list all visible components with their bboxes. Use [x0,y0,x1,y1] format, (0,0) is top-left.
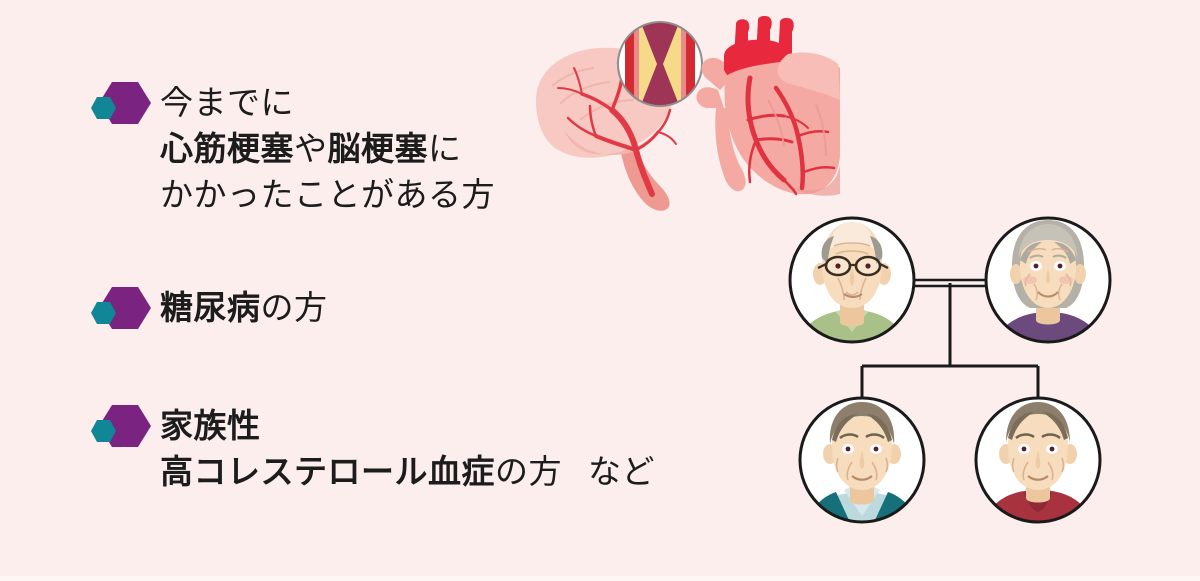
text-run: 今までに [160,84,294,121]
list-item: 糖尿病の方 [88,285,328,331]
list-item-label: 家族性 高コレステロール血症の方など [160,403,655,495]
heart-icon [696,16,840,196]
family-pedigree-diagram [780,208,1120,550]
list-item-label: 今までに 心筋梗塞や脳梗塞に かかったことがある方 [160,80,495,218]
list-item-label: 糖尿病の方 [160,285,328,331]
brain-and-heart-illustration [520,8,840,218]
text-run: 脳梗塞 [328,130,429,167]
double-hexagon-bullet-icon [88,80,156,126]
grandmother-portrait [986,218,1110,360]
text-run: 心筋梗塞 [160,130,294,167]
text-run: に [428,130,462,167]
list-item: 家族性 高コレステロール血症の方など [88,403,655,495]
text-run: の方 [261,289,328,326]
text-run: 家族性 [160,407,261,444]
double-hexagon-bullet-icon [88,403,156,449]
text-run: 高コレステロール血症 [160,453,495,490]
son-left-portrait [800,398,924,538]
son-right-portrait [976,398,1100,538]
text-run: かかったことがある方 [160,176,495,213]
list-item: 今までに 心筋梗塞や脳梗塞に かかったことがある方 [88,80,495,218]
grandfather-portrait [790,218,914,358]
double-hexagon-bullet-icon [88,285,156,331]
bottom-divider [0,576,1200,581]
risk-factor-panel: 今までに 心筋梗塞や脳梗塞に かかったことがある方 糖尿病の方 [0,0,1200,581]
text-run: 糖尿病 [160,289,261,326]
text-run: や [294,130,328,167]
text-run: の方 [495,453,562,490]
text-run: など [588,453,655,490]
